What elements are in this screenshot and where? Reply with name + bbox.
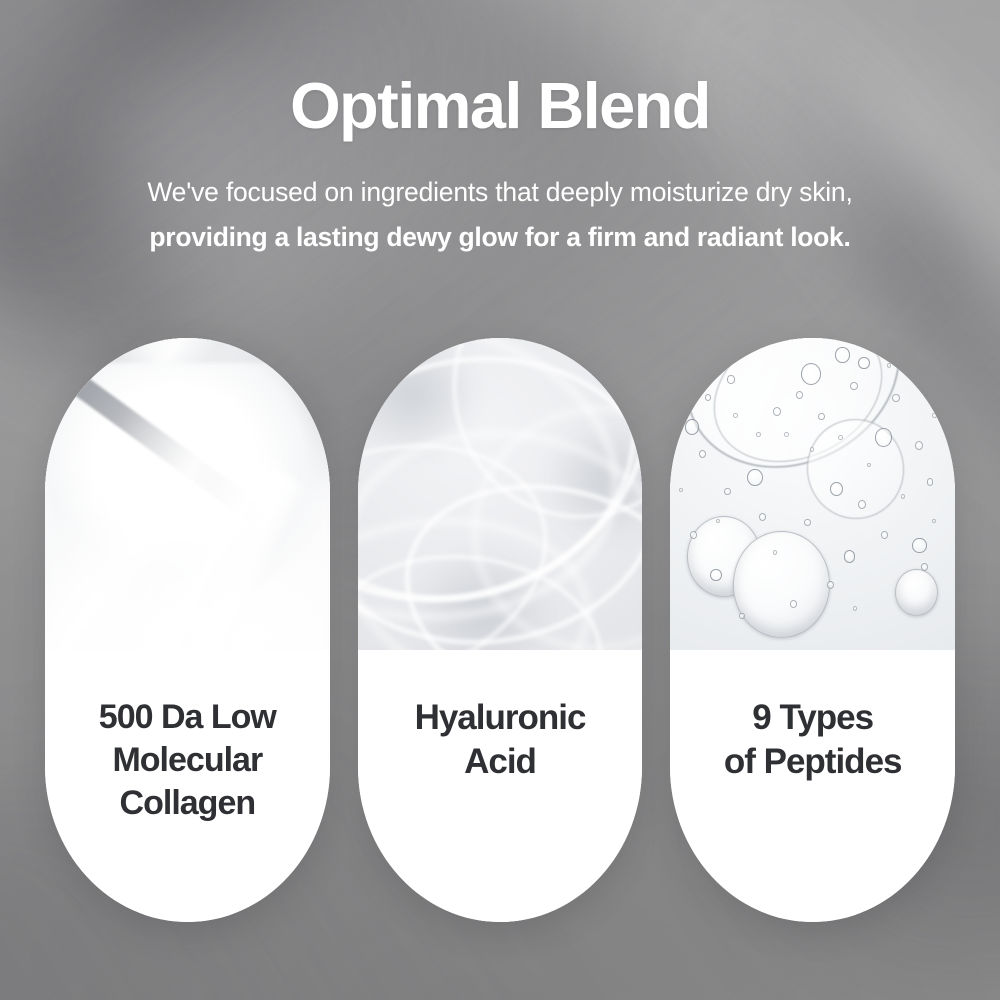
gel-bubble-27	[790, 600, 797, 607]
gel-bubble-24	[921, 563, 928, 571]
subtitle-line-2: providing a lasting dewy glow for a firm…	[0, 217, 1000, 257]
subtitle-line-1: We've focused on ingredients that deeply…	[0, 172, 1000, 212]
gel-bubble-16	[915, 441, 923, 450]
gel-bubble-30	[705, 394, 711, 401]
gel-bubble-42	[733, 413, 738, 418]
hyaluronic-label: Hyaluronic Acid	[415, 696, 586, 784]
gel-bubble-17	[927, 478, 934, 485]
gel-bubble-2	[835, 347, 849, 363]
peptides-body: 9 Types of Peptides	[670, 650, 955, 922]
gel-bubble-41	[756, 432, 761, 438]
gel-bubble-20	[759, 513, 766, 521]
gel-media	[670, 338, 955, 650]
ingredient-card-list: 500 Da Low Molecular Collagen	[45, 338, 955, 922]
gel-bubble-8	[912, 538, 926, 554]
gel-bubble-32	[810, 447, 814, 451]
gel-bubble-9	[710, 569, 721, 581]
header: Optimal Blend We've focused on ingredien…	[0, 0, 1000, 257]
ingredient-card-collagen[interactable]: 500 Da Low Molecular Collagen	[45, 338, 330, 922]
page-title: Optimal Blend	[0, 72, 1000, 140]
gel-bubble-10	[844, 550, 855, 562]
gel-bubble-5	[685, 419, 699, 435]
promo-banner: Optimal Blend We've focused on ingredien…	[0, 0, 1000, 1000]
gel-bubble-large-2	[733, 531, 830, 637]
gel-bubble-3	[858, 357, 869, 369]
ingredient-card-hyaluronic-acid[interactable]: Hyaluronic Acid	[358, 338, 643, 922]
gel-bubble-23	[881, 531, 888, 538]
gel-bubble-12	[796, 391, 803, 399]
gel-bubble-25	[690, 531, 697, 538]
collagen-media	[45, 338, 330, 650]
gel-bubble-29	[727, 375, 734, 383]
ingredient-card-peptides[interactable]: 9 Types of Peptides	[670, 338, 955, 922]
gel-bubble-7	[830, 482, 843, 496]
peptides-label: 9 Types of Peptides	[724, 696, 902, 784]
subtitle: We've focused on ingredients that deeply…	[0, 172, 1000, 257]
collagen-label: 500 Da Low Molecular Collagen	[99, 696, 276, 824]
gel-bubble-40	[853, 606, 857, 611]
collagen-body: 500 Da Low Molecular Collagen	[45, 650, 330, 922]
gel-bubble-43	[887, 363, 892, 368]
hyaluronic-body: Hyaluronic Acid	[358, 650, 643, 922]
gel-bubble-15	[892, 394, 899, 402]
gel-bubble-31	[784, 432, 789, 437]
water-media	[358, 338, 643, 650]
gel-bubble-1	[801, 363, 821, 385]
gel-bubble-45	[932, 413, 936, 418]
gel-bubble-33	[838, 435, 843, 440]
gel-bubble-14	[850, 382, 858, 391]
gel-bubble-6	[747, 469, 763, 486]
gel-bubble-large-3	[895, 569, 938, 616]
